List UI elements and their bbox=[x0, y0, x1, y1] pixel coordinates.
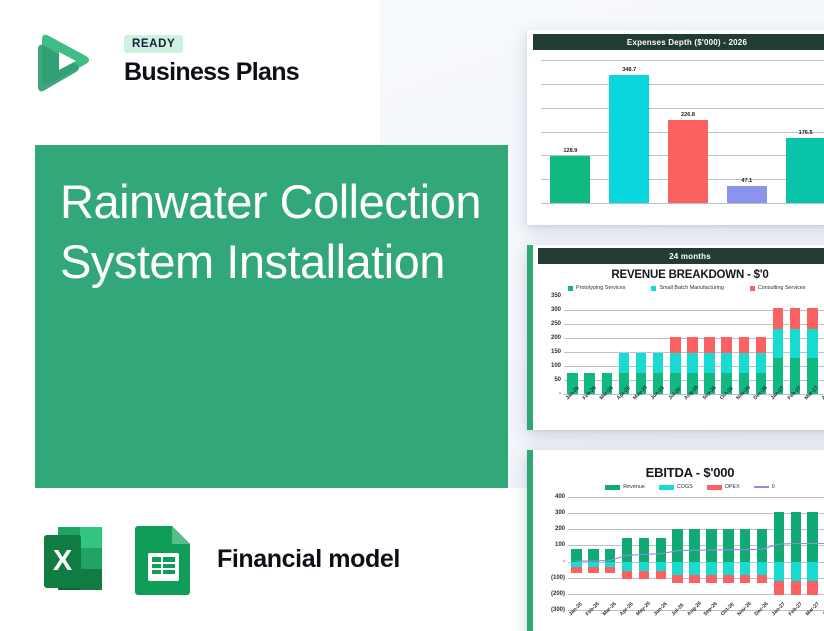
bar-segment bbox=[739, 353, 750, 373]
bar-slot: 176.5 bbox=[776, 60, 824, 203]
brand-name: Business Plans bbox=[124, 58, 299, 87]
legend-swatch bbox=[707, 485, 722, 490]
legend-item: Small Batch Manufacturing bbox=[651, 285, 723, 291]
expenses-chart-banner: Expenses Depth ($'000) - 2026 bbox=[533, 34, 824, 50]
bar-slot bbox=[701, 296, 718, 394]
bar-slot bbox=[787, 296, 804, 394]
ready-badge: READY bbox=[124, 35, 183, 53]
chart-card-expenses: Expenses Depth ($'000) - 2026 128.9348.7… bbox=[527, 30, 824, 225]
bar-slot bbox=[735, 296, 752, 394]
x-slot: Jun-26 bbox=[650, 394, 667, 428]
legend-label: Prototyping Services bbox=[576, 285, 625, 291]
x-slot: Nov-26 bbox=[735, 394, 752, 428]
ebitda-chart-legend: RevenueCOGSOPEX0 bbox=[538, 482, 824, 493]
bar-segment bbox=[687, 353, 698, 373]
bar: 128.9 bbox=[550, 156, 590, 203]
stacked-bar bbox=[687, 296, 698, 394]
y-axis-tick: 250 bbox=[551, 321, 561, 327]
legend-item: Prototyping Services bbox=[568, 285, 625, 291]
legend-swatch bbox=[651, 286, 656, 291]
page-title: Rainwater Collection System Installation bbox=[60, 172, 490, 292]
x-slot: Jul-26 bbox=[669, 610, 686, 631]
bar-slot bbox=[581, 296, 598, 394]
stacked-bar bbox=[567, 296, 578, 394]
legend-swatch bbox=[659, 485, 674, 490]
stacked-bar bbox=[584, 296, 595, 394]
x-slot: Dec-26 bbox=[754, 610, 771, 631]
bar-value-label: 176.5 bbox=[799, 130, 813, 136]
y-axis-tick: 100 bbox=[551, 363, 561, 369]
ebitda-zero-line bbox=[568, 497, 824, 610]
bar: 47.1 bbox=[727, 186, 767, 203]
bar-slot: 47.1 bbox=[717, 60, 776, 203]
ebitda-plot-area: 400300200100-(100)(200)(300) Jan-26Feb-2… bbox=[568, 497, 824, 610]
x-slot: Mar-26 bbox=[598, 394, 615, 428]
revenue-chart-legend: Prototyping ServicesSmall Batch Manufact… bbox=[538, 283, 824, 294]
stacked-bar bbox=[653, 296, 664, 394]
bar-slot: 128.9 bbox=[541, 60, 600, 203]
x-slot: Feb-26 bbox=[585, 610, 602, 631]
bar: 348.7 bbox=[609, 75, 649, 203]
stacked-bar bbox=[790, 296, 801, 394]
bar-segment bbox=[653, 353, 664, 373]
legend-item: Revenue bbox=[605, 484, 645, 490]
x-slot: Aug-26 bbox=[686, 610, 703, 631]
chart-card-revenue: 24 months REVENUE BREAKDOWN - $'0 Protot… bbox=[527, 245, 824, 430]
x-slot: Oct-26 bbox=[718, 394, 735, 428]
legend-label: OPEX bbox=[725, 484, 740, 490]
bar-segment bbox=[704, 353, 715, 373]
legend-label: COGS bbox=[677, 484, 693, 490]
y-axis-tick: 400 bbox=[555, 494, 565, 500]
bar-segment bbox=[670, 353, 681, 373]
bar-slot bbox=[650, 296, 667, 394]
bar-value-label: 128.9 bbox=[563, 148, 577, 154]
legend-label: 0 bbox=[772, 484, 775, 490]
x-slot: Mar-27 bbox=[804, 394, 821, 428]
stacked-bar bbox=[807, 296, 818, 394]
bar-slot bbox=[667, 296, 684, 394]
x-slot: Oct-26 bbox=[720, 610, 737, 631]
x-slot: Dec-26 bbox=[752, 394, 769, 428]
expenses-plot-area: 128.9348.7226.847.1176.5 bbox=[541, 60, 824, 203]
play-triangle-logo-icon bbox=[32, 28, 94, 92]
x-slot: May-26 bbox=[636, 610, 653, 631]
microsoft-excel-icon: X bbox=[36, 521, 112, 597]
y-axis-tick: 200 bbox=[551, 335, 561, 341]
chart-card-ebitda: EBITDA - $'000 RevenueCOGSOPEX0 40030020… bbox=[527, 450, 824, 631]
legend-item: Consulting Services bbox=[750, 285, 806, 291]
x-slot: Feb-27 bbox=[787, 394, 804, 428]
bar-segment bbox=[704, 337, 715, 354]
x-slot: Jul-26 bbox=[667, 394, 684, 428]
financial-model-label: Financial model bbox=[217, 545, 400, 574]
bar-segment bbox=[721, 337, 732, 354]
x-slot: Aug-26 bbox=[684, 394, 701, 428]
x-slot: May-26 bbox=[633, 394, 650, 428]
legend-swatch bbox=[568, 286, 573, 291]
x-slot: Jan-26 bbox=[564, 394, 581, 428]
bar-slot: 348.7 bbox=[600, 60, 659, 203]
bar-segment bbox=[721, 353, 732, 373]
x-slot: Jan-26 bbox=[568, 610, 585, 631]
x-slot: Feb-27 bbox=[787, 610, 804, 631]
x-slot: Mar-27 bbox=[804, 610, 821, 631]
bar-segment bbox=[790, 308, 801, 329]
bar-segment bbox=[636, 353, 647, 373]
legend-item: 0 bbox=[754, 484, 775, 490]
stacked-bar bbox=[756, 296, 767, 394]
x-slot: Apr-26 bbox=[619, 610, 636, 631]
legend-swatch bbox=[750, 286, 755, 291]
svg-text:X: X bbox=[53, 545, 73, 577]
bar-slot: 226.8 bbox=[659, 60, 718, 203]
bar-segment bbox=[773, 308, 784, 329]
y-axis-tick: 50 bbox=[554, 377, 561, 383]
bar-segment bbox=[756, 337, 767, 354]
legend-swatch bbox=[754, 486, 769, 488]
y-axis-tick: 100 bbox=[555, 542, 565, 548]
y-axis-tick: 150 bbox=[551, 349, 561, 355]
x-slot: Nov-26 bbox=[737, 610, 754, 631]
y-axis-tick: (200) bbox=[551, 591, 565, 597]
bar-segment bbox=[619, 353, 630, 373]
bar: 226.8 bbox=[668, 120, 708, 203]
bar-segment bbox=[807, 308, 818, 329]
y-axis-tick: (100) bbox=[551, 575, 565, 581]
stacked-bar bbox=[619, 296, 630, 394]
ebitda-chart-title: EBITDA - $'000 bbox=[538, 453, 824, 482]
stacked-bar bbox=[602, 296, 613, 394]
bar-slot bbox=[684, 296, 701, 394]
bar-value-label: 47.1 bbox=[741, 178, 752, 184]
format-row: X Financial model bbox=[36, 518, 400, 600]
bar-segment bbox=[807, 329, 818, 358]
x-slot: Feb-26 bbox=[581, 394, 598, 428]
legend-label: Consulting Services bbox=[758, 285, 806, 291]
bar-segment bbox=[790, 329, 801, 358]
stacked-bar bbox=[670, 296, 681, 394]
legend-label: Small Batch Manufacturing bbox=[659, 285, 723, 291]
y-axis-tick: 300 bbox=[551, 307, 561, 313]
stacked-bar bbox=[704, 296, 715, 394]
bar-slot bbox=[752, 296, 769, 394]
y-axis-tick: 350 bbox=[551, 293, 561, 299]
grid-line bbox=[541, 203, 824, 204]
bar-slot bbox=[598, 296, 615, 394]
revenue-plot-area: 35030025020015010050- Jan-26Feb-26Mar-26… bbox=[564, 296, 824, 394]
x-slot: Mar-26 bbox=[602, 610, 619, 631]
bar-slot bbox=[718, 296, 735, 394]
y-axis-tick: 200 bbox=[555, 526, 565, 532]
x-slot: Jan-27 bbox=[771, 610, 788, 631]
y-axis-tick: - bbox=[563, 559, 565, 565]
bar-segment bbox=[670, 337, 681, 354]
poster-canvas: READY Business Plans Rainwater Collectio… bbox=[0, 0, 824, 631]
bar-slot bbox=[633, 296, 650, 394]
y-axis-tick: (300) bbox=[551, 607, 565, 613]
x-slot: Jun-26 bbox=[652, 610, 669, 631]
legend-item: COGS bbox=[659, 484, 693, 490]
brand-logo: READY Business Plans bbox=[32, 26, 332, 96]
bar-slot bbox=[770, 296, 787, 394]
stacked-bar bbox=[739, 296, 750, 394]
legend-item: OPEX bbox=[707, 484, 740, 490]
y-axis-tick: - bbox=[559, 391, 561, 397]
bar-segment bbox=[687, 337, 698, 354]
bar: 176.5 bbox=[786, 138, 824, 203]
x-slot: Sep-26 bbox=[701, 394, 718, 428]
bar-slot bbox=[564, 296, 581, 394]
stacked-bar bbox=[636, 296, 647, 394]
google-sheets-icon bbox=[132, 521, 195, 597]
x-slot: Apr-26 bbox=[615, 394, 632, 428]
stacked-bar bbox=[721, 296, 732, 394]
bar-value-label: 348.7 bbox=[622, 67, 636, 73]
legend-swatch bbox=[605, 485, 620, 490]
stacked-bar bbox=[773, 296, 784, 394]
bar-segment bbox=[739, 337, 750, 354]
y-axis-tick: 300 bbox=[555, 510, 565, 516]
bar-value-label: 226.8 bbox=[681, 112, 695, 118]
bar-segment bbox=[756, 353, 767, 373]
x-slot: Jan-27 bbox=[770, 394, 787, 428]
bar-segment bbox=[773, 329, 784, 358]
revenue-chart-banner: 24 months bbox=[538, 248, 824, 264]
bar-slot bbox=[804, 296, 821, 394]
revenue-chart-title: REVENUE BREAKDOWN - $'0 bbox=[538, 264, 824, 283]
legend-label: Revenue bbox=[623, 484, 645, 490]
bar-slot bbox=[615, 296, 632, 394]
x-slot: Sep-26 bbox=[703, 610, 720, 631]
